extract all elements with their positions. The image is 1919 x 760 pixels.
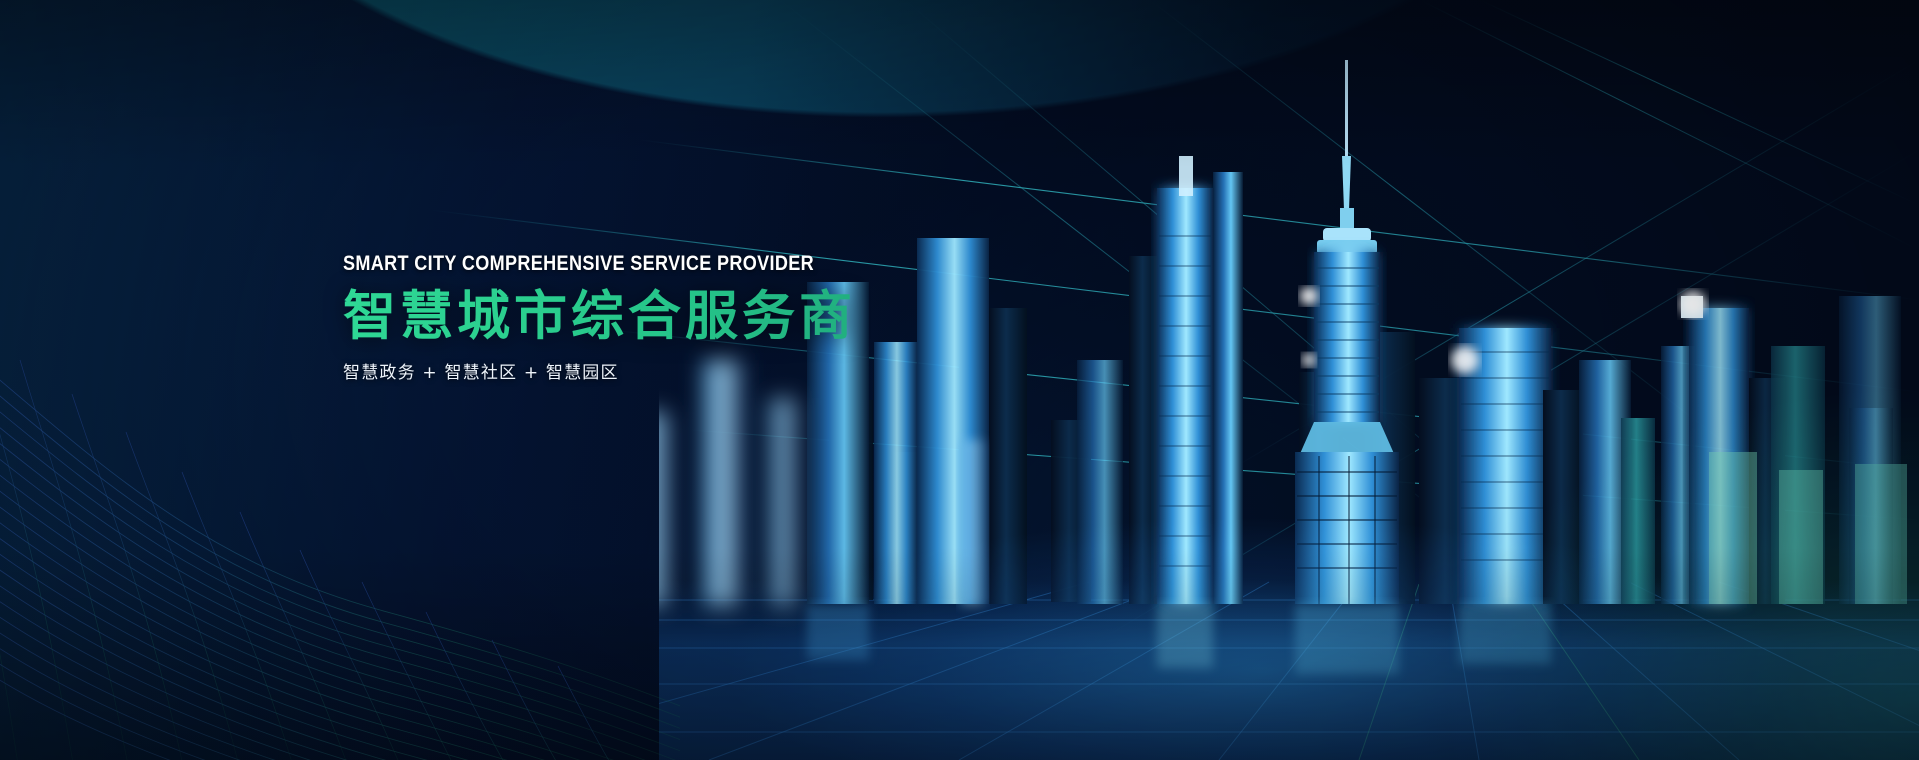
hero-headline: 智慧城市综合服务商 <box>343 287 1103 346</box>
city-skyline-illustration <box>659 60 1919 760</box>
hero-copy-block: SMART CITY COMPREHENSIVE SERVICE PROVIDE… <box>343 253 1103 383</box>
hero-banner: SMART CITY COMPREHENSIVE SERVICE PROVIDE… <box>0 0 1919 760</box>
hero-eyebrow: SMART CITY COMPREHENSIVE SERVICE PROVIDE… <box>343 253 997 275</box>
hero-subtitle: 智慧政务 + 智慧社区 + 智慧园区 <box>343 358 1103 383</box>
